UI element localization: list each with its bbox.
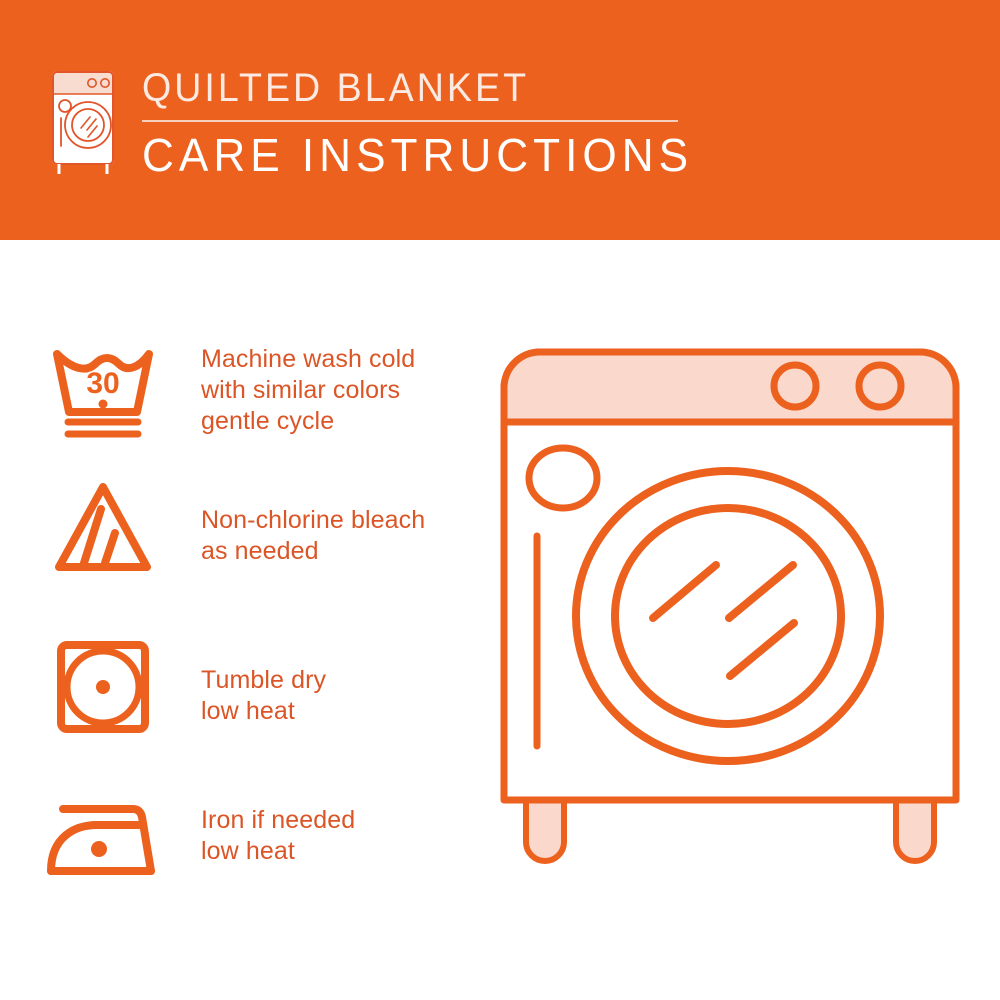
care-line: as needed bbox=[201, 536, 425, 567]
front-load-washing-machine-illustration bbox=[480, 328, 980, 948]
washing-machine-icon bbox=[44, 68, 122, 180]
wash-temperature-value: 30 bbox=[86, 367, 119, 400]
care-line: Machine wash cold bbox=[201, 344, 415, 375]
care-line: Iron if needed bbox=[201, 805, 355, 836]
care-item-label-machine-wash: Machine wash cold with similar colors ge… bbox=[201, 344, 415, 437]
header-banner: QUILTED BLANKET CARE INSTRUCTIONS bbox=[0, 0, 1000, 240]
iron-low-heat-icon bbox=[28, 785, 178, 895]
page-title-secondary: CARE INSTRUCTIONS bbox=[142, 126, 814, 184]
care-item-label-tumble-dry: Tumble dry low heat bbox=[201, 665, 326, 727]
care-line: Tumble dry bbox=[201, 665, 326, 696]
control-panel bbox=[504, 352, 956, 422]
page-title-primary: QUILTED BLANKET bbox=[142, 62, 800, 114]
care-symbol-list: 30 Machine wash cold with similar colors… bbox=[0, 240, 500, 1000]
care-line: with similar colors bbox=[201, 375, 415, 406]
machine-feet bbox=[526, 798, 934, 861]
non-chlorine-bleach-triangle-icon bbox=[28, 472, 178, 582]
header-title-group: QUILTED BLANKET CARE INSTRUCTIONS bbox=[142, 62, 842, 184]
care-item-label-bleach: Non-chlorine bleach as needed bbox=[201, 505, 425, 567]
title-divider bbox=[142, 120, 678, 122]
care-item-label-iron: Iron if needed low heat bbox=[201, 805, 355, 867]
care-line: gentle cycle bbox=[201, 406, 415, 437]
wash-tub-30-gentle-icon: 30 bbox=[28, 335, 178, 445]
tumble-dry-low-heat-icon bbox=[28, 632, 178, 742]
care-line: low heat bbox=[201, 696, 326, 727]
care-line: Non-chlorine bleach bbox=[201, 505, 425, 536]
care-line: low heat bbox=[201, 836, 355, 867]
care-instructions-page: QUILTED BLANKET CARE INSTRUCTIONS 30 Mac… bbox=[0, 0, 1000, 1000]
